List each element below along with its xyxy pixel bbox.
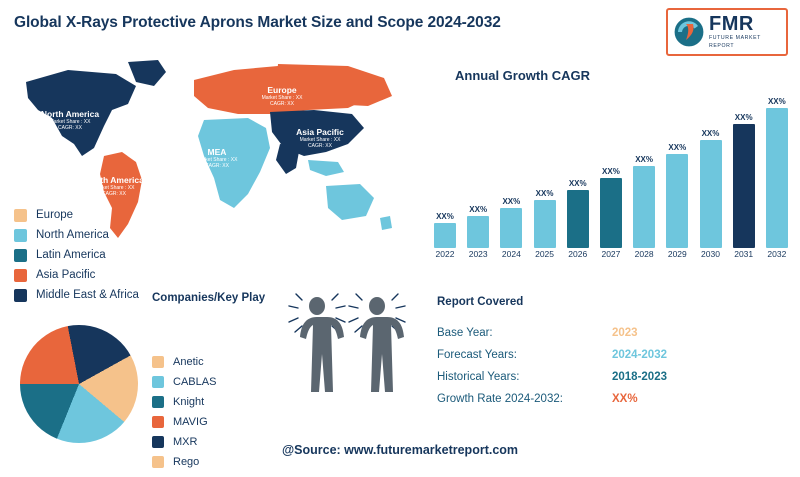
bar-column: XX% xyxy=(698,129,724,248)
legend-swatch-asia-pacific xyxy=(14,269,27,282)
bar-chart: XX% XX% XX% XX% XX% XX% XX% XX% XX% XX% … xyxy=(432,88,790,248)
company-swatch-rego xyxy=(152,456,164,468)
x-tick: 2032 xyxy=(764,249,790,259)
x-tick: 2024 xyxy=(498,249,524,259)
report-covered-row: Growth Rate 2024-2032: XX% xyxy=(437,388,767,410)
bar-column: XX% xyxy=(565,179,591,248)
logo-wordmark: FMR xyxy=(709,14,786,34)
company-swatch-anetic xyxy=(152,356,164,368)
report-covered-value: 2018-2023 xyxy=(612,371,667,383)
map-label-south-america: South America Market Share : XX CAGR: XX xyxy=(74,176,154,197)
report-covered-key: Historical Years: xyxy=(437,371,612,383)
report-covered-value: 2024-2032 xyxy=(612,349,667,361)
report-covered-key: Forecast Years: xyxy=(437,349,612,361)
bar xyxy=(600,178,622,248)
logo-subtitle: FUTURE MARKET REPORT xyxy=(709,34,786,50)
map-region-new-zealand xyxy=(380,216,392,230)
bar-column: XX% xyxy=(631,155,657,248)
bar xyxy=(733,124,755,248)
legend-item: North America xyxy=(14,225,139,245)
map-label-mea: MEA Market Share : XX CAGR: XX xyxy=(186,148,248,169)
bar xyxy=(633,166,655,248)
company-item: MAVIG xyxy=(152,412,216,432)
bar-column: XX% xyxy=(498,197,524,248)
x-tick: 2030 xyxy=(698,249,724,259)
map-label-europe: Europe Market Share : XX CAGR: XX xyxy=(248,86,316,107)
page-title: Global X-Rays Protective Aprons Market S… xyxy=(14,14,501,32)
x-tick: 2026 xyxy=(565,249,591,259)
x-tick: 2023 xyxy=(465,249,491,259)
x-tick: 2022 xyxy=(432,249,458,259)
company-swatch-mavig xyxy=(152,416,164,428)
fmr-logo: FMR FUTURE MARKET REPORT xyxy=(666,8,788,56)
bar-column: XX% xyxy=(432,212,458,248)
legend-item: Europe xyxy=(14,205,139,225)
bar-column: XX% xyxy=(731,113,757,248)
report-covered-value: XX% xyxy=(612,393,638,405)
company-item: CABLAS xyxy=(152,372,216,392)
map-label-north-america: North America Market Share : XX CAGR: XX xyxy=(32,110,108,131)
company-share-pie-chart xyxy=(20,325,138,443)
bar-column: XX% xyxy=(465,205,491,248)
bar-chart-x-axis: 2022 2023 2024 2025 2026 2027 2028 2029 … xyxy=(432,249,790,259)
bar xyxy=(567,190,589,248)
company-item: Knight xyxy=(152,392,216,412)
bar xyxy=(534,200,556,248)
report-covered-row: Base Year: 2023 xyxy=(437,322,767,344)
company-swatch-cablas xyxy=(152,376,164,388)
x-tick: 2028 xyxy=(631,249,657,259)
report-covered-row: Historical Years: 2018-2023 xyxy=(437,366,767,388)
legend-item: Middle East & Africa xyxy=(14,285,139,305)
report-covered-key: Growth Rate 2024-2032: xyxy=(437,393,612,405)
legend-swatch-latin-america xyxy=(14,249,27,262)
report-covered-value: 2023 xyxy=(612,327,638,339)
bar xyxy=(666,154,688,248)
x-tick: 2027 xyxy=(598,249,624,259)
legend-swatch-europe xyxy=(14,209,27,222)
report-covered-table: Base Year: 2023 Forecast Years: 2024-203… xyxy=(437,322,767,410)
map-region-sea-islands xyxy=(308,160,344,176)
source-text: @Source: www.futuremarketreport.com xyxy=(0,443,800,457)
bar-column: XX% xyxy=(598,167,624,248)
bar-chart-title: Annual Growth CAGR xyxy=(455,68,590,83)
company-swatch-knight xyxy=(152,396,164,408)
company-item: Anetic xyxy=(152,352,216,372)
logo-mark-icon xyxy=(672,15,706,49)
person-icon xyxy=(360,297,404,392)
report-covered-title: Report Covered xyxy=(437,296,523,308)
x-tick: 2029 xyxy=(664,249,690,259)
bar xyxy=(500,208,522,248)
report-covered-row: Forecast Years: 2024-2032 xyxy=(437,344,767,366)
legend-swatch-north-america xyxy=(14,229,27,242)
map-region-greenland xyxy=(128,60,166,86)
companies-title: Companies/Key Play xyxy=(152,292,265,304)
region-legend: Europe North America Latin America Asia … xyxy=(14,205,139,305)
legend-item: Latin America xyxy=(14,245,139,265)
bar xyxy=(700,140,722,248)
map-region-australia xyxy=(326,184,374,220)
legend-swatch-mea xyxy=(14,289,27,302)
legend-item: Asia Pacific xyxy=(14,265,139,285)
person-icon xyxy=(300,297,344,392)
bar-column: XX% xyxy=(664,143,690,248)
bar xyxy=(766,108,788,248)
bar xyxy=(467,216,489,248)
map-label-asia-pacific: Asia Pacific Market Share : XX CAGR: XX xyxy=(284,128,356,149)
bar-column: XX% xyxy=(532,189,558,248)
people-illustration xyxy=(288,292,408,402)
x-tick: 2031 xyxy=(731,249,757,259)
bar-column: XX% xyxy=(764,97,790,248)
bar xyxy=(434,223,456,248)
report-covered-key: Base Year: xyxy=(437,327,612,339)
x-tick: 2025 xyxy=(532,249,558,259)
